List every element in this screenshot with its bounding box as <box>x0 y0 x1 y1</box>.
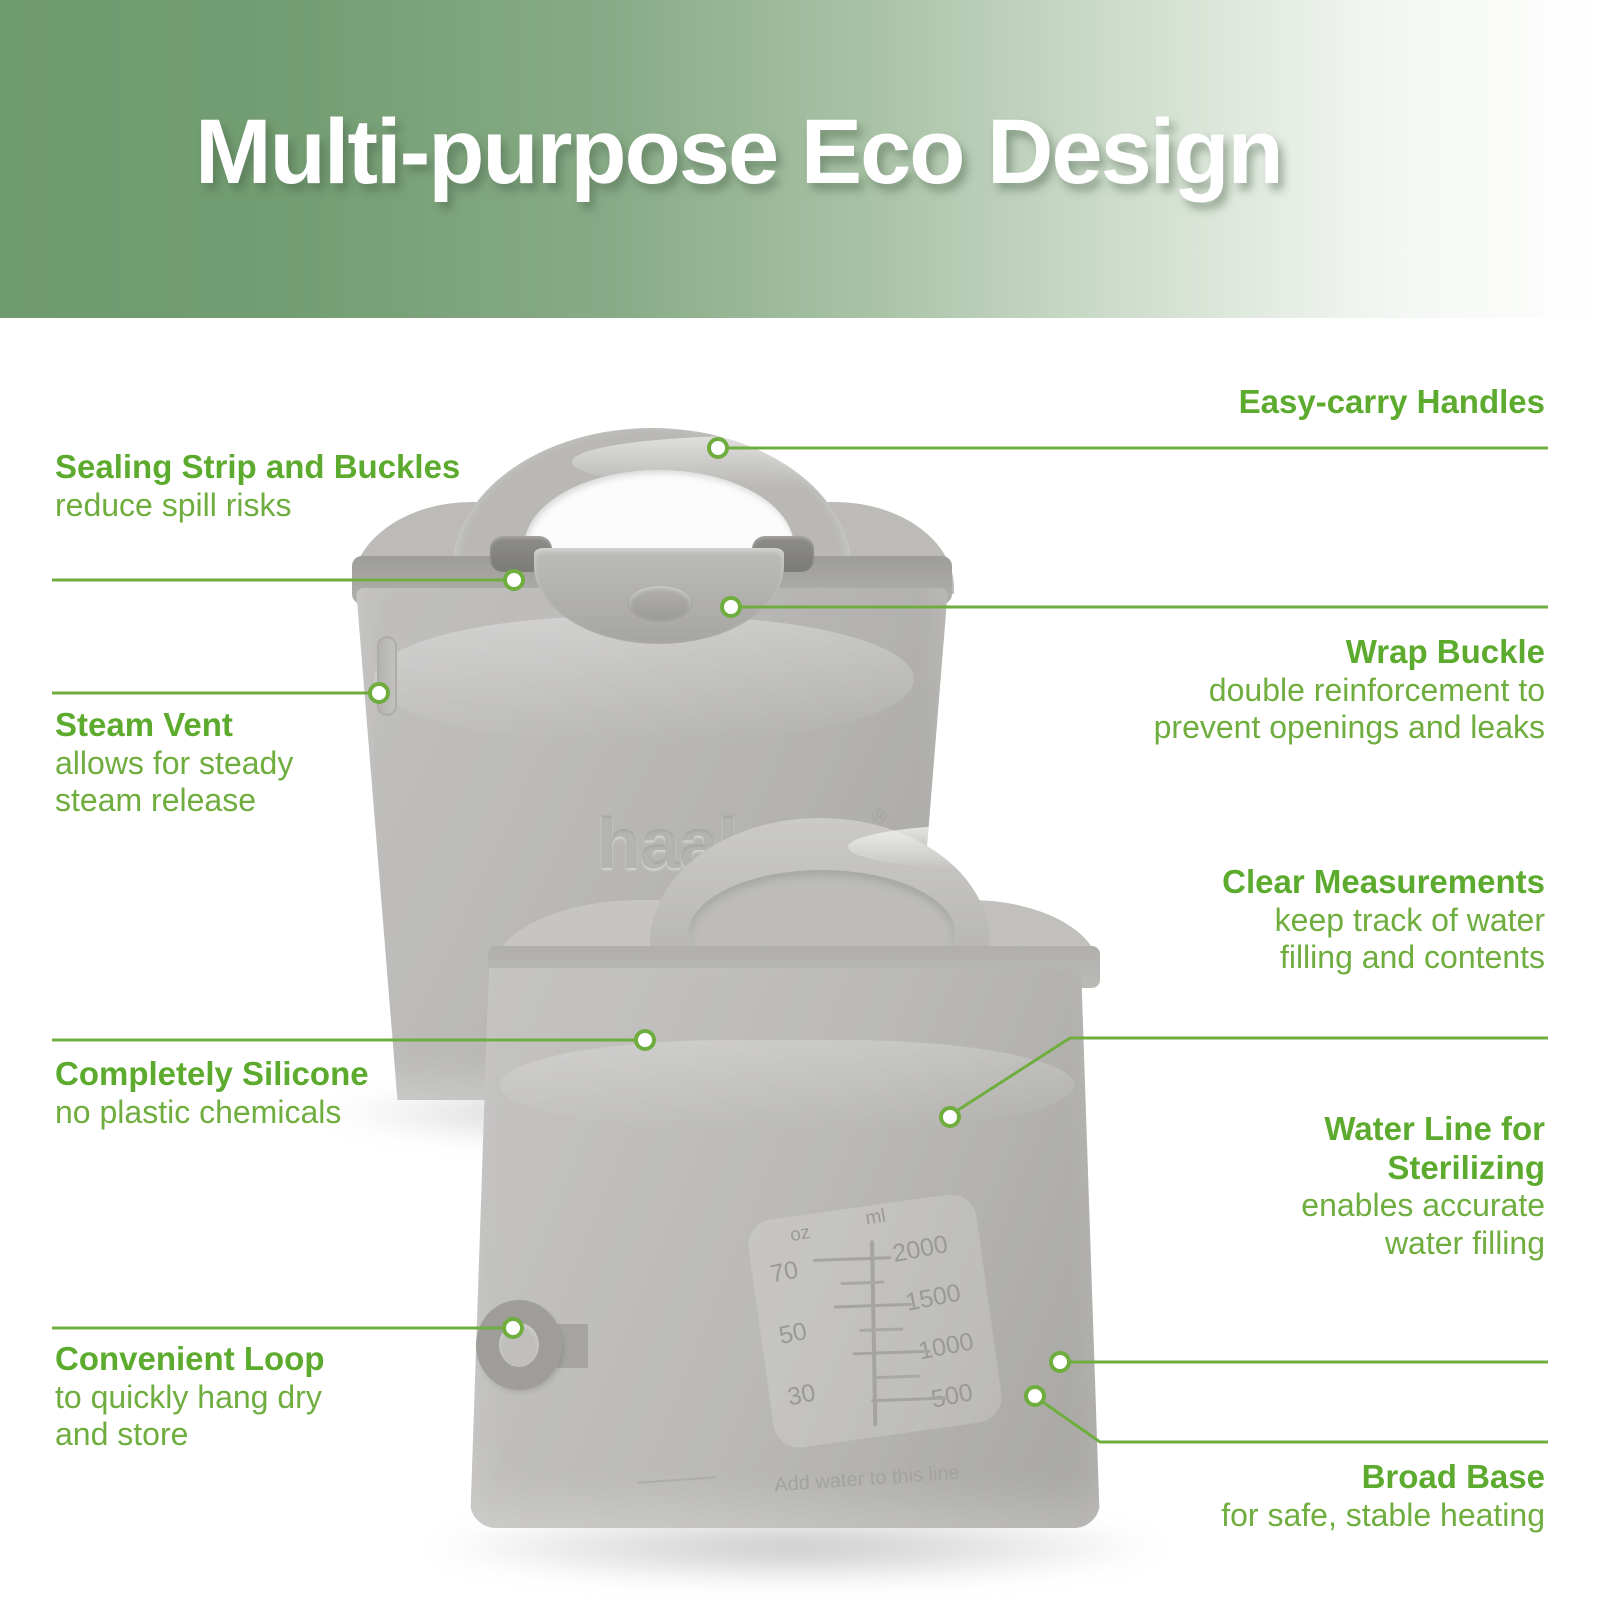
label-headline: Sealing Strip and Buckles <box>55 448 460 487</box>
label-headline-line2: Sterilizing <box>1301 1149 1545 1188</box>
label-headline: Broad Base <box>1221 1458 1545 1497</box>
label-headline: Wrap Buckle <box>1154 633 1545 672</box>
label-sub: for safe, stable heating <box>1221 1497 1545 1534</box>
label-headline: Clear Measurements <box>1222 863 1545 902</box>
label-sub-line1: allows for steady <box>55 745 293 782</box>
label-sub-line1: keep track of water <box>1222 902 1545 939</box>
label-sub: reduce spill risks <box>55 487 460 524</box>
label-convenient-loop: Convenient Loop to quickly hang dry and … <box>55 1340 324 1453</box>
label-headline: Steam Vent <box>55 706 293 745</box>
label-sub-line1: double reinforcement to <box>1154 672 1545 709</box>
label-sub-line1: to quickly hang dry <box>55 1379 324 1416</box>
label-sub-line2: prevent openings and leaks <box>1154 709 1545 746</box>
label-sub-line1: enables accurate <box>1301 1187 1545 1224</box>
label-broad-base: Broad Base for safe, stable heating <box>1221 1458 1545 1534</box>
annotation-labels: Sealing Strip and Buckles reduce spill r… <box>0 0 1600 1600</box>
label-headline: Convenient Loop <box>55 1340 324 1379</box>
label-sub-line2: and store <box>55 1416 324 1453</box>
label-headline: Completely Silicone <box>55 1055 369 1094</box>
label-sub-line2: water filling <box>1301 1225 1545 1262</box>
label-water-line-for-sterilizing: Water Line for Sterilizing enables accur… <box>1301 1110 1545 1262</box>
label-sub-line2: steam release <box>55 782 293 819</box>
label-clear-measurements: Clear Measurements keep track of water f… <box>1222 863 1545 976</box>
label-sub-line2: filling and contents <box>1222 939 1545 976</box>
label-easy-carry-handles: Easy-carry Handles <box>1239 383 1545 422</box>
label-steam-vent: Steam Vent allows for steady steam relea… <box>55 706 293 819</box>
label-headline-line1: Water Line for <box>1301 1110 1545 1149</box>
label-completely-silicone: Completely Silicone no plastic chemicals <box>55 1055 369 1131</box>
label-sub: no plastic chemicals <box>55 1094 369 1131</box>
label-wrap-buckle: Wrap Buckle double reinforcement to prev… <box>1154 633 1545 746</box>
label-headline: Easy-carry Handles <box>1239 383 1545 422</box>
label-sealing-strip-and-buckles: Sealing Strip and Buckles reduce spill r… <box>55 448 460 524</box>
